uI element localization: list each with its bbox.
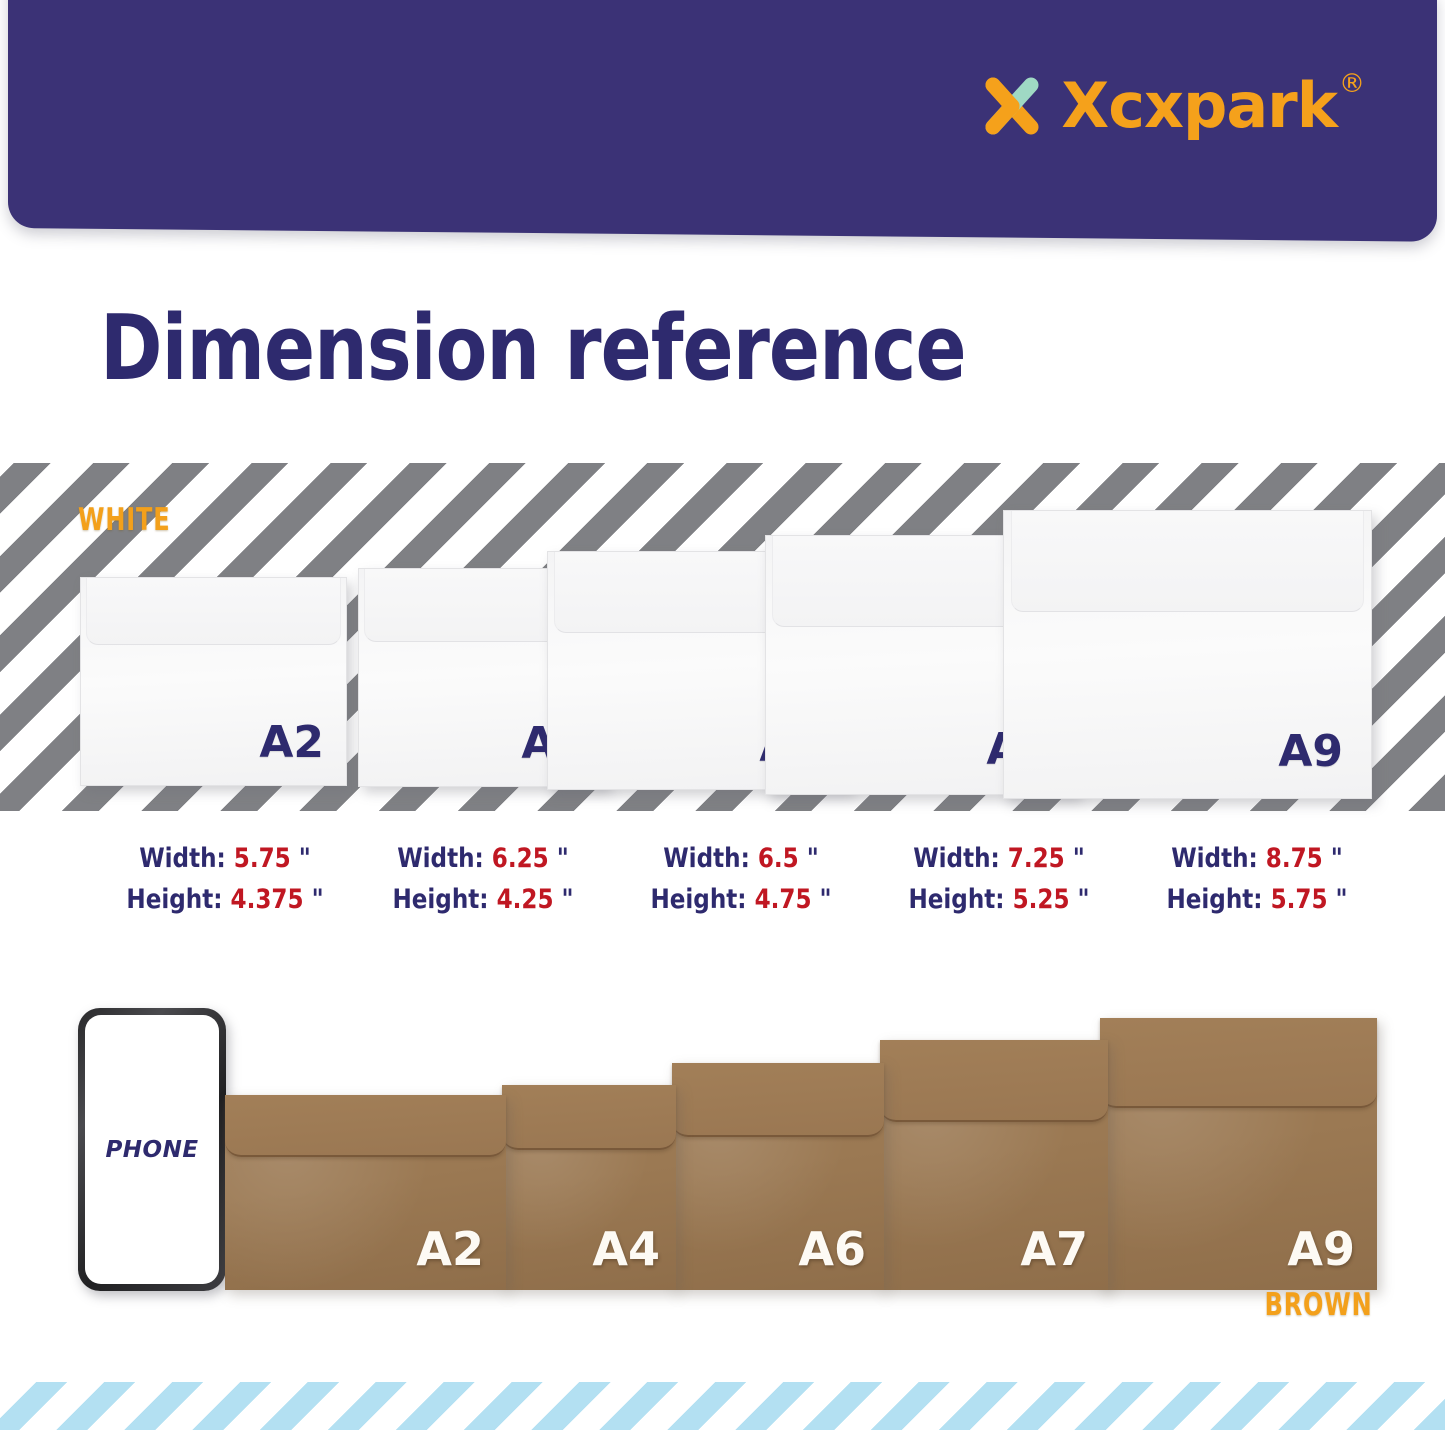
- width-line: Width: 6.25 ": [360, 838, 605, 879]
- brown-envelope-a2: A2: [225, 1095, 506, 1290]
- envelope-flap: [672, 1063, 884, 1137]
- height-label: Height:: [908, 884, 1004, 915]
- brown-envelope-a4: A4: [502, 1085, 676, 1290]
- dimension-column-a9: Width: 8.75 " Height: 5.75 ": [1128, 838, 1386, 920]
- dimension-column-a4: Width: 6.25 " Height: 4.25 ": [354, 838, 612, 920]
- white-envelope-a9: A9: [1003, 510, 1372, 799]
- height-value: 5.25: [1013, 884, 1070, 915]
- height-line: Height: 5.25 ": [876, 879, 1121, 920]
- envelope-flap: [225, 1095, 506, 1157]
- height-line: Height: 5.75 ": [1134, 879, 1379, 920]
- phone-mockup: PHONE: [78, 1008, 226, 1291]
- page-title: Dimension reference: [100, 304, 966, 394]
- width-line: Width: 5.75 ": [102, 838, 347, 879]
- height-value: 4.375: [231, 884, 304, 915]
- dimensions-row: Width: 5.75 " Height: 4.375 " Width: 6.2…: [96, 838, 1386, 920]
- height-line: Height: 4.75 ": [618, 879, 863, 920]
- height-label: Height:: [392, 884, 488, 915]
- width-value: 7.25: [1008, 843, 1065, 874]
- dimension-column-a7: Width: 7.25 " Height: 5.25 ": [870, 838, 1128, 920]
- unit-symbol: ": [562, 884, 574, 915]
- white-envelope-a2: A2: [80, 577, 347, 786]
- brown-band-label: BROWN: [1265, 1287, 1373, 1323]
- height-label: Height:: [1166, 884, 1262, 915]
- unit-symbol: ": [557, 843, 569, 874]
- envelope-size-label: A4: [592, 1226, 660, 1272]
- envelope-flap: [502, 1085, 676, 1150]
- phone-label: PHONE: [105, 1137, 198, 1163]
- width-value: 6.5: [758, 843, 799, 874]
- height-value: 4.25: [497, 884, 554, 915]
- envelope-flap: [1100, 1018, 1377, 1108]
- brown-envelope-a9: A9: [1100, 1018, 1377, 1290]
- height-value: 5.75: [1271, 884, 1328, 915]
- header-banner: Xcxpark ®: [8, 0, 1437, 242]
- unit-symbol: ": [820, 884, 832, 915]
- width-label: Width:: [1171, 843, 1258, 874]
- brown-envelope-a6: A6: [672, 1063, 884, 1290]
- width-line: Width: 6.5 ": [618, 838, 863, 879]
- brand-name: Xcxpark: [1061, 75, 1337, 137]
- brown-envelope-a7: A7: [880, 1040, 1108, 1290]
- envelope-size-label: A9: [1287, 1226, 1355, 1272]
- blue-stripe-band: [0, 1382, 1445, 1430]
- unit-symbol: ": [1078, 884, 1090, 915]
- envelope-flap: [880, 1040, 1108, 1122]
- width-value: 6.25: [492, 843, 549, 874]
- height-line: Height: 4.375 ": [102, 879, 347, 920]
- unit-symbol: ": [312, 884, 324, 915]
- envelope-size-label: A6: [798, 1226, 866, 1272]
- envelope-size-label: A7: [1020, 1226, 1088, 1272]
- envelope-size-label: A2: [416, 1226, 484, 1272]
- unit-symbol: ": [807, 843, 819, 874]
- width-label: Width:: [397, 843, 484, 874]
- registered-trademark-icon: ®: [1339, 71, 1365, 97]
- unit-symbol: ": [299, 843, 311, 874]
- infographic-page: Xcxpark ® Dimension reference A2 A4 A6 A…: [0, 0, 1445, 1445]
- envelope-size-label: A9: [1278, 730, 1343, 774]
- envelope-size-label: A2: [259, 721, 324, 765]
- width-value: 8.75: [1266, 843, 1323, 874]
- height-label: Height:: [650, 884, 746, 915]
- width-label: Width:: [139, 843, 226, 874]
- envelope-flap: [1011, 511, 1363, 612]
- width-label: Width:: [913, 843, 1000, 874]
- width-line: Width: 8.75 ": [1134, 838, 1379, 879]
- envelope-flap: [86, 578, 340, 645]
- width-line: Width: 7.25 ": [876, 838, 1121, 879]
- unit-symbol: ": [1331, 843, 1343, 874]
- dimension-column-a6: Width: 6.5 " Height: 4.75 ": [612, 838, 870, 920]
- width-label: Width:: [663, 843, 750, 874]
- width-value: 5.75: [234, 843, 291, 874]
- phone-screen: PHONE: [85, 1015, 219, 1284]
- height-value: 4.75: [755, 884, 812, 915]
- unit-symbol: ": [1336, 884, 1348, 915]
- brand-logo: Xcxpark ®: [981, 75, 1365, 137]
- dimension-column-a2: Width: 5.75 " Height: 4.375 ": [96, 838, 354, 920]
- height-line: Height: 4.25 ": [360, 879, 605, 920]
- white-band-label: WHITE: [78, 502, 171, 538]
- height-label: Height:: [126, 884, 222, 915]
- unit-symbol: ": [1073, 843, 1085, 874]
- x-mark-logo-icon: [981, 75, 1043, 137]
